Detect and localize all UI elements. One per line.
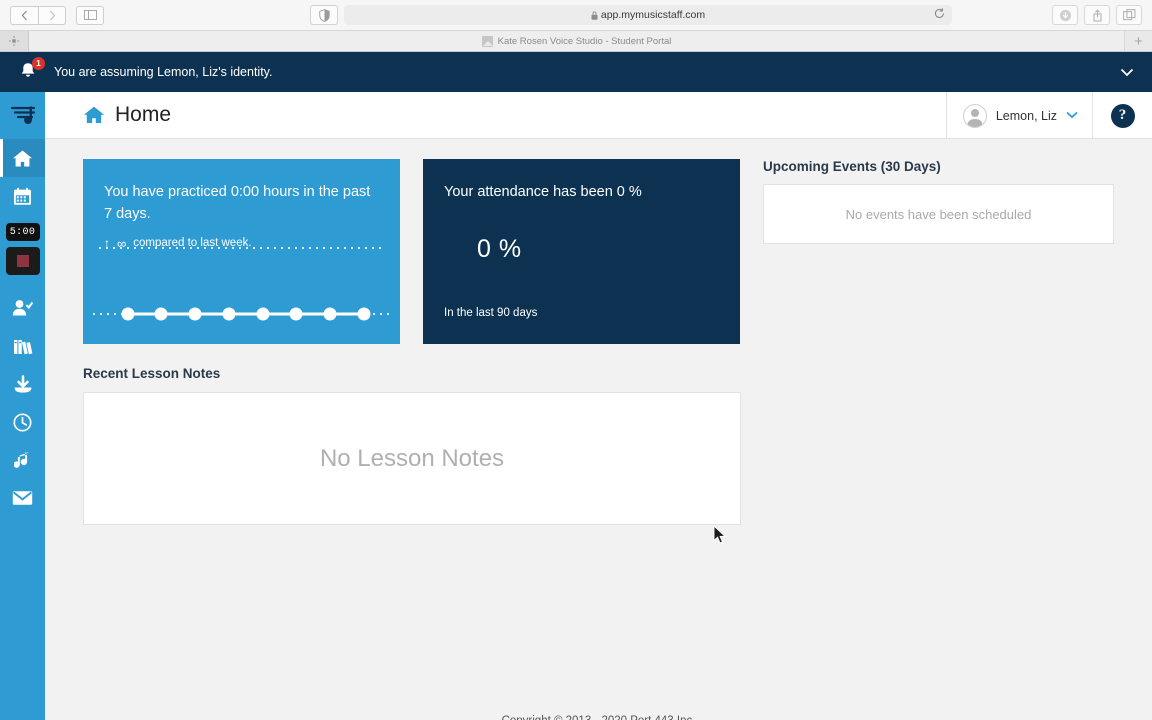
stat-cards-row: You have practiced 0:00 hours in the pas… — [83, 159, 741, 344]
practice-stat-card[interactable]: You have practiced 0:00 hours in the pas… — [83, 159, 400, 344]
sidebar-nav: 5:00 — [0, 92, 45, 720]
practice-sparkline-chart — [83, 234, 400, 344]
sidebar-item-practice[interactable] — [0, 441, 45, 479]
mouse-cursor — [713, 525, 727, 545]
sidebar-toggle-button[interactable] — [76, 6, 104, 25]
move-handle-icon — [8, 35, 20, 47]
sidebar-item-calendar[interactable] — [0, 177, 45, 215]
attendance-headline: Your attendance has been 0 % — [444, 181, 719, 203]
avatar-icon — [963, 104, 987, 128]
browser-tab[interactable]: Kate Rosen Voice Studio - Student Portal — [29, 31, 1124, 51]
reload-icon — [934, 8, 945, 19]
share-button[interactable] — [1084, 5, 1110, 25]
dashboard-grid: You have practiced 0:00 hours in the pas… — [83, 159, 1114, 525]
user-name-label: Lemon, Liz — [996, 109, 1057, 123]
privacy-shield-icon — [319, 9, 330, 22]
nav-button-group — [10, 6, 104, 25]
impersonation-banner: 1 You are assuming Lemon, Liz's identity… — [0, 52, 1152, 92]
sidebar-item-library[interactable] — [0, 327, 45, 365]
dashboard-content: You have practiced 0:00 hours in the pas… — [45, 139, 1152, 715]
sidebar-item-attendance[interactable] — [0, 289, 45, 327]
attendance-value: 0 % — [477, 235, 719, 264]
browser-tab-bar: Kate Rosen Voice Studio - Student Portal… — [0, 31, 1152, 52]
mymusicstaff-logo-icon — [8, 103, 38, 129]
calendar-icon — [13, 187, 32, 206]
clock-icon — [13, 413, 32, 432]
page-title-text: Home — [115, 103, 171, 127]
chevron-down-icon — [1120, 68, 1134, 77]
forward-arrow-icon — [49, 10, 56, 21]
sidebar-toggle-icon — [84, 10, 97, 20]
practice-headline: You have practiced 0:00 hours in the pas… — [104, 181, 379, 226]
chevron-down-icon — [1066, 110, 1078, 122]
notification-bell[interactable]: 1 — [18, 61, 40, 83]
back-arrow-icon — [21, 10, 28, 21]
privacy-report-button[interactable] — [310, 5, 338, 25]
recent-lesson-notes-empty: No Lesson Notes — [320, 445, 504, 473]
tab-favicon-icon — [482, 36, 493, 47]
forward-button[interactable] — [38, 6, 66, 25]
attendance-footer: In the last 90 days — [444, 307, 537, 319]
url-text-group: app.mymusicstaff.com — [591, 9, 705, 21]
practice-timer-stop-button[interactable] — [6, 247, 40, 275]
share-icon — [1092, 9, 1103, 22]
app-body: 5:00 — [0, 92, 1152, 720]
dashboard-right-column: Upcoming Events (30 Days) No events have… — [763, 159, 1114, 525]
upcoming-events-empty: No events have been scheduled — [846, 207, 1032, 222]
recent-lesson-notes-section: Recent Lesson Notes No Lesson Notes — [83, 366, 741, 525]
recent-lesson-notes-panel: No Lesson Notes — [83, 392, 741, 525]
envelope-icon — [12, 490, 33, 506]
footer: Copyright © 2013 - 2020 Port 443 Inc. — [45, 715, 1152, 720]
tab-overview-button[interactable] — [1116, 5, 1142, 25]
back-button[interactable] — [10, 6, 38, 25]
sidebar-item-messages[interactable] — [0, 479, 45, 517]
browser-toolbar-right — [1052, 5, 1142, 25]
app-screen: app.mymusicstaff.com Kate — [0, 0, 1152, 720]
help-button[interactable]: ? — [1092, 92, 1152, 139]
recent-lesson-notes-title: Recent Lesson Notes — [83, 366, 741, 381]
download-tray-icon — [13, 375, 33, 394]
url-host: app.mymusicstaff.com — [601, 9, 705, 21]
main-area: Home Lemon, Liz ? — [45, 92, 1152, 720]
page-header: Home Lemon, Liz ? — [45, 92, 1152, 139]
stop-square-icon — [17, 255, 29, 267]
lock-icon — [591, 11, 598, 20]
home-icon — [83, 105, 105, 125]
books-icon — [13, 337, 33, 356]
app-logo[interactable] — [0, 92, 45, 139]
upcoming-events-panel: No events have been scheduled — [763, 184, 1114, 244]
impersonation-message: You are assuming Lemon, Liz's identity. — [54, 65, 272, 79]
downloads-button[interactable] — [1052, 5, 1078, 25]
new-tab-button[interactable]: + — [1124, 31, 1152, 51]
upcoming-events-title: Upcoming Events (30 Days) — [763, 159, 1114, 174]
sidebar-item-home[interactable] — [0, 139, 45, 177]
home-icon — [12, 149, 33, 168]
help-question-icon: ? — [1111, 104, 1135, 128]
tab-drag-handle[interactable] — [0, 31, 29, 51]
browser-toolbar: app.mymusicstaff.com — [0, 0, 1152, 31]
notification-badge: 1 — [32, 57, 45, 70]
tab-title: Kate Rosen Voice Studio - Student Portal — [498, 36, 672, 47]
header-actions: Lemon, Liz ? — [946, 92, 1152, 139]
impersonation-expand-button[interactable] — [1120, 65, 1134, 80]
reload-button[interactable] — [934, 8, 945, 22]
download-icon — [1059, 9, 1072, 22]
practice-timer-display[interactable]: 5:00 — [6, 223, 40, 241]
sidebar-item-downloads[interactable] — [0, 365, 45, 403]
tab-overview-icon — [1123, 9, 1136, 21]
page-title: Home — [83, 103, 171, 127]
music-note-icon — [14, 451, 32, 470]
attendance-stat-card[interactable]: Your attendance has been 0 % 0 % In the … — [423, 159, 740, 344]
url-input[interactable]: app.mymusicstaff.com — [344, 5, 952, 25]
user-check-icon — [12, 299, 33, 317]
address-bar-area: app.mymusicstaff.com — [310, 5, 952, 25]
dashboard-left-column: You have practiced 0:00 hours in the pas… — [83, 159, 741, 525]
user-menu-button[interactable]: Lemon, Liz — [946, 92, 1092, 139]
copyright-text: Copyright © 2013 - 2020 Port 443 Inc. — [502, 715, 696, 720]
sidebar-item-history[interactable] — [0, 403, 45, 441]
